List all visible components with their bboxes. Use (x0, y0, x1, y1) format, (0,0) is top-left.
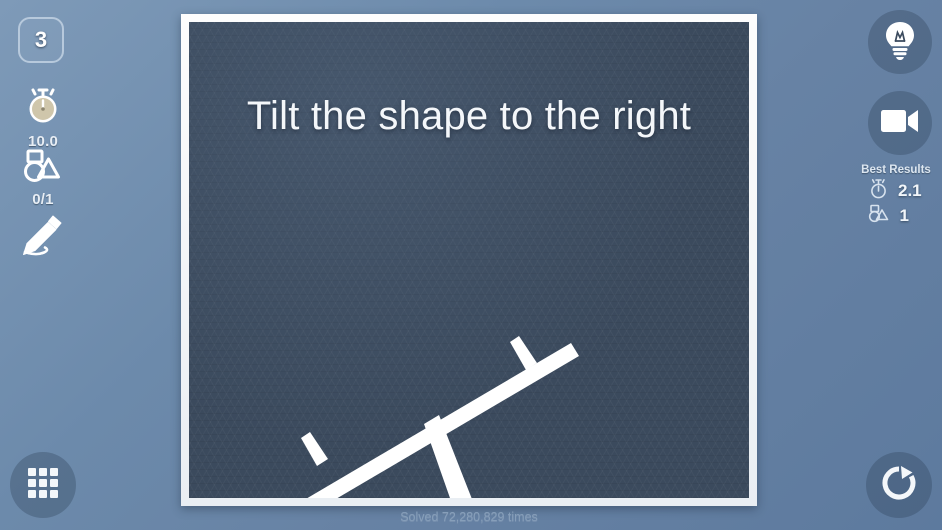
timer-indicator: 10.0 (0, 84, 86, 150)
hint-button[interactable] (868, 10, 932, 74)
restart-icon (881, 465, 917, 506)
restart-button[interactable] (866, 452, 932, 518)
draw-tool-button[interactable] (0, 212, 86, 261)
lightbulb-icon (882, 20, 918, 65)
right-sidebar: Best Results 2.1 (850, 0, 942, 530)
stopwatch-icon (21, 115, 65, 132)
menu-button[interactable] (10, 452, 76, 518)
video-camera-icon (880, 107, 920, 140)
best-shapes-value: 1 (900, 206, 926, 226)
level-badge[interactable]: 3 (18, 17, 64, 63)
best-time-value: 2.1 (898, 181, 924, 201)
shapes-icon (20, 173, 66, 190)
video-button[interactable] (868, 91, 932, 155)
solved-count: Solved 72,280,829 times (181, 510, 757, 524)
pencil-icon (19, 243, 67, 260)
best-results-title: Best Results (850, 164, 942, 176)
shapes-value: 0/1 (0, 191, 86, 208)
left-sidebar: 3 10.0 (0, 0, 86, 530)
play-area-frame: Tilt the shape to the right (181, 14, 757, 506)
grid-menu-icon (26, 466, 60, 505)
best-results-shapes-row: 1 (850, 205, 942, 227)
play-area[interactable]: Tilt the shape to the right (189, 22, 749, 498)
level-number: 3 (35, 27, 47, 53)
stopwatch-icon (868, 178, 889, 205)
shapes-icon (867, 204, 891, 229)
shapes-indicator: 0/1 (0, 148, 86, 208)
best-results: Best Results 2.1 (850, 164, 942, 227)
best-results-time-row: 2.1 (850, 180, 942, 202)
puzzle-shape[interactable] (189, 22, 749, 498)
